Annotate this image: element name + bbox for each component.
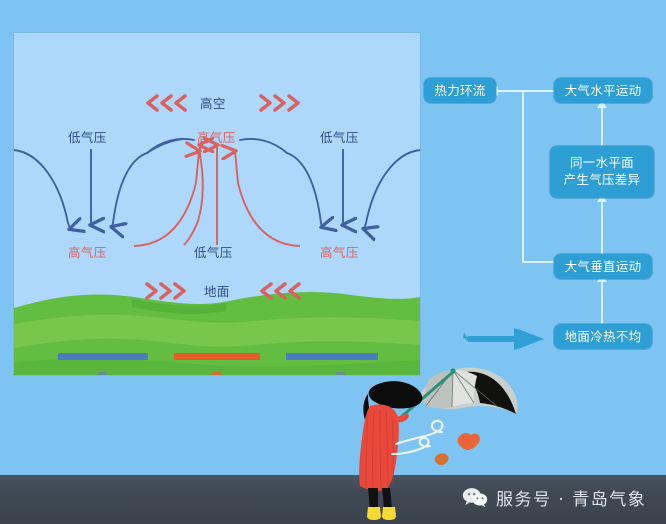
- label-upper-center-high: 高气压: [197, 132, 236, 145]
- flow-node-horizontal-motion-label: 大气水平运动: [565, 83, 642, 98]
- screenshot-canvas: 高空 低气压 高气压 低气压 高气压 低气压 高气压 地面: [0, 0, 666, 524]
- flow-node-pressure-difference[interactable]: 同一水平面 产生气压差异: [550, 146, 654, 198]
- label-upper-left-low: 低气压: [68, 132, 107, 145]
- flow-line-vert-riser: [522, 90, 524, 262]
- flow-node-vertical-motion[interactable]: 大气垂直运动: [554, 254, 652, 279]
- chevron-group-upper-right: [256, 93, 302, 113]
- leg-right: [382, 488, 392, 508]
- flow-node-vertical-motion-label: 大气垂直运动: [565, 259, 642, 274]
- flow-node-pressure-difference-line1: 同一水平面: [570, 155, 634, 172]
- flow-node-pressure-difference-line2: 产生气压差异: [564, 172, 641, 189]
- flow-line-vert-to-pressure: [601, 198, 603, 256]
- watermark-text: 服务号 · 青岛气象: [496, 485, 646, 510]
- boot-left: [367, 507, 381, 520]
- thermal-circulation-diagram: 高空 低气压 高气压 低气压 高气压 低气压 高气压 地面: [14, 33, 420, 375]
- label-upper-air: 高空: [200, 98, 226, 111]
- label-ground: 地面: [204, 286, 230, 299]
- hair: [369, 381, 423, 408]
- flow-line-pressure-to-horiz: [601, 104, 603, 146]
- flowchart: 热力环流 大气水平运动 同一水平面 产生气压差异 大气垂直运动 地面冷热不均: [424, 78, 662, 342]
- leg-left: [368, 488, 378, 508]
- chevron-group-lower-left: [142, 281, 188, 301]
- leaf-small: [435, 453, 449, 465]
- flow-node-result-label: 热力环流: [434, 83, 485, 98]
- flow-line-vert-to-vertbox: [522, 261, 556, 263]
- wechat-icon: [462, 487, 488, 507]
- flow-node-uneven-heating-label: 地面冷热不均: [565, 329, 642, 344]
- flow-node-uneven-heating[interactable]: 地面冷热不均: [554, 324, 652, 349]
- circulation-arrows: [14, 33, 420, 375]
- wind-swirl: [392, 421, 442, 454]
- chevron-group-upper-left: [144, 93, 190, 113]
- chevron-group-lower-right: [258, 281, 304, 301]
- boot-right: [382, 507, 396, 520]
- label-lower-center-low: 低气压: [194, 247, 233, 260]
- leaf-large: [458, 433, 480, 450]
- watermark: 服务号 · 青岛气象: [462, 482, 646, 512]
- flow-node-result[interactable]: 热力环流: [424, 78, 496, 103]
- label-upper-right-low: 低气压: [320, 132, 359, 145]
- flow-line-horiz-to-result: [498, 90, 554, 92]
- label-lower-left-high: 高气压: [68, 247, 107, 260]
- right-arrow-icon: [462, 320, 548, 360]
- flow-line-heat-to-vert: [601, 278, 603, 324]
- flow-node-horizontal-motion[interactable]: 大气水平运动: [554, 78, 652, 103]
- label-lower-right-high: 高气压: [320, 247, 359, 260]
